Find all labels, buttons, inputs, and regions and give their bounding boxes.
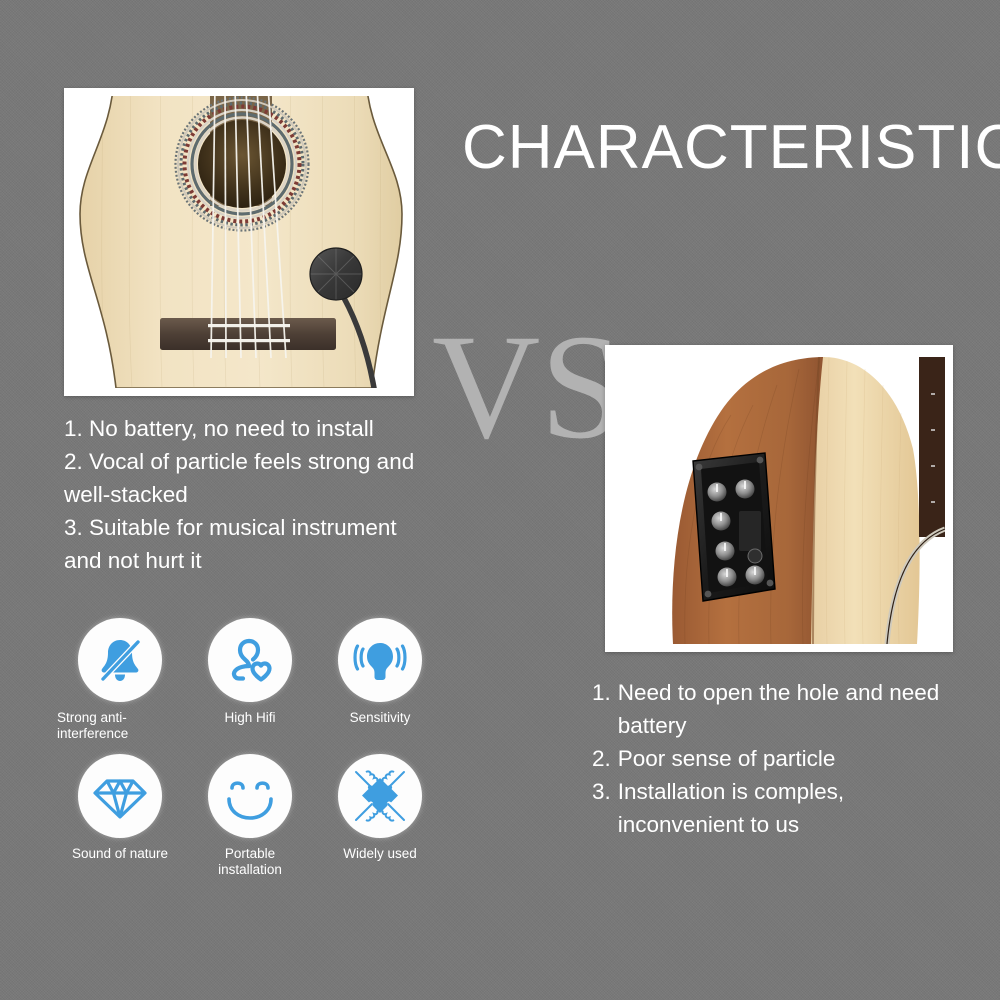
- left-product-photo: [64, 88, 414, 396]
- diamond-icon: [92, 768, 148, 824]
- smiley-face-icon: [221, 767, 279, 825]
- feature-icon-circle: [78, 618, 162, 702]
- list-item: 1. Need to open the hole and need batter…: [592, 676, 972, 742]
- feature-label: Strong anti-interference: [57, 710, 169, 742]
- feature-label: Sound of nature: [72, 846, 168, 862]
- puzzle-pieces-icon: [350, 766, 410, 826]
- feature-sound-of-nature: Sound of nature: [55, 754, 185, 878]
- list-item: 3. Suitable for musical instrument and n…: [64, 511, 434, 577]
- list-item-number: 1.: [592, 676, 618, 742]
- feature-label: High Hifi: [224, 710, 275, 726]
- left-photo-image: [72, 96, 406, 388]
- feature-icon-circle: [208, 618, 292, 702]
- list-item-text: Suitable for musical instrument and not …: [64, 515, 397, 573]
- feature-widely-used: Widely used: [315, 754, 445, 878]
- list-item: 1. No battery, no need to install: [64, 412, 434, 445]
- right-photo-image: [613, 353, 945, 644]
- feature-label: Portable installation: [194, 846, 306, 878]
- list-item-text: No battery, no need to install: [89, 416, 374, 441]
- feature-icon-grid: Strong anti-interference High Hifi: [55, 618, 445, 878]
- left-feature-list: 1. No battery, no need to install 2. Voc…: [64, 412, 434, 577]
- feature-icon-circle: [338, 618, 422, 702]
- guitar-side-with-preamp-panel-illustration: [613, 353, 945, 644]
- feature-sensitivity: Sensitivity: [315, 618, 445, 742]
- feature-portable-installation: Portable installation: [185, 754, 315, 878]
- vs-label: VS: [432, 312, 624, 462]
- right-product-photo: [605, 345, 953, 652]
- feature-label: Widely used: [343, 846, 417, 862]
- person-heart-icon: [223, 633, 277, 687]
- list-item-number: 1.: [64, 416, 83, 441]
- list-item-number: 3.: [64, 515, 83, 540]
- sound-waves-icon: [353, 633, 407, 687]
- list-item: 3. Installation is comples, inconvenient…: [592, 775, 972, 841]
- feature-icon-circle: [78, 754, 162, 838]
- list-item-text: Vocal of particle feels strong and well-…: [64, 449, 414, 507]
- feature-strong-anti-interference: Strong anti-interference: [55, 618, 185, 742]
- list-item-number: 2.: [64, 449, 83, 474]
- bell-slash-icon: [93, 633, 147, 687]
- feature-icon-circle: [338, 754, 422, 838]
- list-item-number: 2.: [592, 742, 618, 775]
- page-title: CHARACTERISTIC: [462, 112, 1000, 183]
- list-item-text: Poor sense of particle: [618, 742, 972, 775]
- list-item: 2. Poor sense of particle: [592, 742, 972, 775]
- feature-high-hifi: High Hifi: [185, 618, 315, 742]
- list-item: 2. Vocal of particle feels strong and we…: [64, 445, 434, 511]
- list-item-text: Need to open the hole and need battery: [618, 676, 972, 742]
- list-item-number: 3.: [592, 775, 618, 841]
- acoustic-guitar-with-soundhole-pickup-illustration: [72, 96, 406, 388]
- right-feature-list: 1. Need to open the hole and need batter…: [592, 676, 972, 841]
- feature-icon-circle: [208, 754, 292, 838]
- feature-label: Sensitivity: [350, 710, 411, 726]
- list-item-text: Installation is comples, inconvenient to…: [618, 775, 972, 841]
